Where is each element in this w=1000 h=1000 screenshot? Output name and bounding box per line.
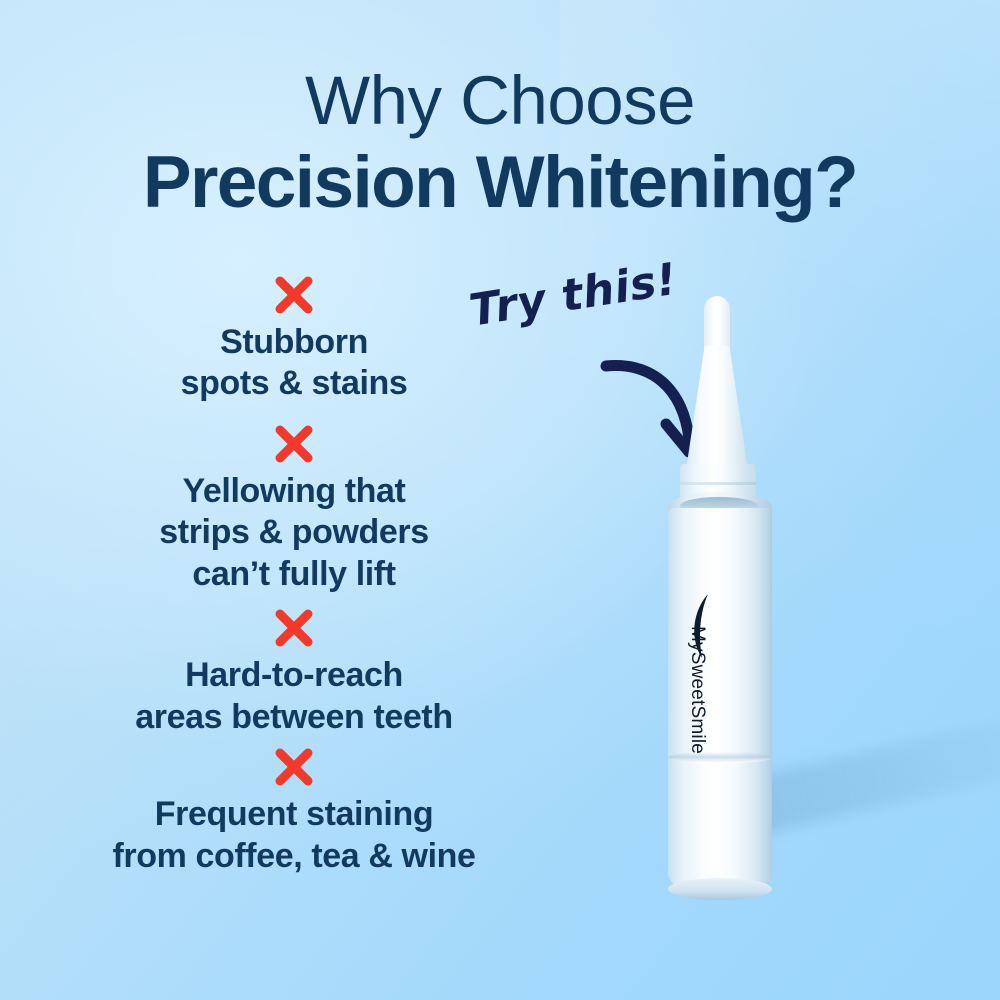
- brand-name: MySweetSmile: [686, 626, 708, 754]
- red-x-icon: [271, 605, 317, 651]
- promo-graphic: Why Choose Precision Whitening? Stubborn…: [0, 0, 1000, 1000]
- page-title: Why Choose Precision Whitening?: [0, 65, 1000, 221]
- list-item: Hard-to-reach areas between teeth: [36, 605, 552, 738]
- list-item: Yellowing that strips & powders can’t fu…: [36, 421, 552, 595]
- red-x-icon: [271, 421, 317, 467]
- problem-list: Stubborn spots & stains Yellowing that s…: [36, 272, 552, 885]
- list-item-label: Yellowing that strips & powders can’t fu…: [36, 471, 552, 595]
- red-x-icon: [271, 272, 317, 318]
- list-item-label: Frequent staining from coffee, tea & win…: [36, 794, 552, 877]
- headline-line-1: Why Choose: [0, 65, 1000, 137]
- list-item-label: Hard-to-reach areas between teeth: [36, 655, 552, 738]
- red-x-icon: [271, 744, 317, 790]
- pen-cone: [686, 346, 748, 470]
- pen-branding: MySweetSmile: [682, 532, 758, 762]
- pen-base: [668, 878, 772, 900]
- pen-nib: [704, 296, 730, 354]
- headline-line-2: Precision Whitening?: [0, 145, 1000, 221]
- list-item: Frequent staining from coffee, tea & win…: [36, 744, 552, 877]
- collar-ridge: [680, 482, 756, 485]
- product-pen: MySweetSmile: [652, 296, 812, 896]
- try-this-annotation: Try this!: [466, 254, 680, 337]
